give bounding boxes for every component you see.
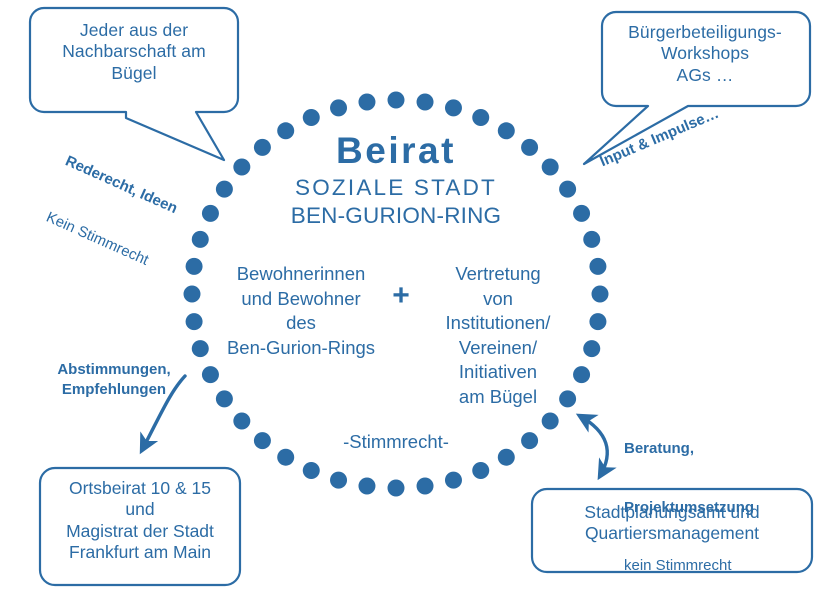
box-bottom-right-text: Stadtplanungsamt und Quartiersmanagement [536,502,808,545]
ring-dot [358,478,375,495]
ring-dot [583,340,600,357]
ring-dot [573,366,590,383]
arrow-label-abstimmungen: Abstimmungen, Empfehlungen [44,360,184,399]
arrow-label-beratung-line1: Beratung, [624,439,784,459]
ring-dot [592,286,609,303]
ring-dot [498,449,515,466]
ring-dot [216,181,233,198]
speech-bubble-top-right-text: Bürgerbeteiligungs- Workshops AGs … [605,22,805,86]
ring-dot [254,432,271,449]
ring-dot [233,413,250,430]
ring-dot [589,313,606,330]
ring-dot [330,472,347,489]
ring-dot [583,231,600,248]
ring-dot [184,286,201,303]
ring-dot [559,181,576,198]
diagram-subtitle-soziale-stadt: SOZIALE STADT [246,174,546,201]
speech-bubble-top-left-text: Jeder aus der Nachbarschaft am Bügel [30,20,238,84]
members-column-institutions: Vertretung von Institutionen/ Vereinen/ … [424,262,572,410]
ring-dot [388,480,405,497]
box-bottom-left-text: Ortsbeirat 10 & 15 und Magistrat der Sta… [42,478,238,563]
ring-dot [388,92,405,109]
arrow-stadtplanungsamt-double [580,416,607,476]
ring-dot [216,390,233,407]
ring-dot [186,258,203,275]
ring-dot [277,449,294,466]
ring-dot [542,413,559,430]
ring-dot [192,231,209,248]
ring-dot [472,462,489,479]
ring-dot [303,462,320,479]
plus-icon: + [386,278,416,315]
ring-dot [202,366,219,383]
ring-dot [202,205,219,222]
diagram-canvas: Jeder aus der Nachbarschaft am Bügel Bür… [0,0,820,600]
ring-dot [417,93,434,110]
arrow-label-beratung-line3: kein Stimmrecht [624,556,784,576]
ring-dot [417,478,434,495]
ring-dot [330,99,347,116]
ring-dot [358,93,375,110]
ring-dot [573,205,590,222]
ring-dot [472,109,489,126]
ring-dot [303,109,320,126]
ring-dot [521,432,538,449]
diagram-title: Beirat [246,128,546,173]
members-column-residents: Bewohnerinnen und Bewohner des Ben-Gurio… [212,262,390,360]
ring-dot [192,340,209,357]
diagram-subtitle-ben-gurion-ring: BEN-GURION-RING [246,202,546,229]
ring-dot [186,313,203,330]
voting-rights-note: -Stimmrecht- [316,431,476,454]
ring-dot [445,472,462,489]
ring-dot [589,258,606,275]
ring-dot [445,99,462,116]
